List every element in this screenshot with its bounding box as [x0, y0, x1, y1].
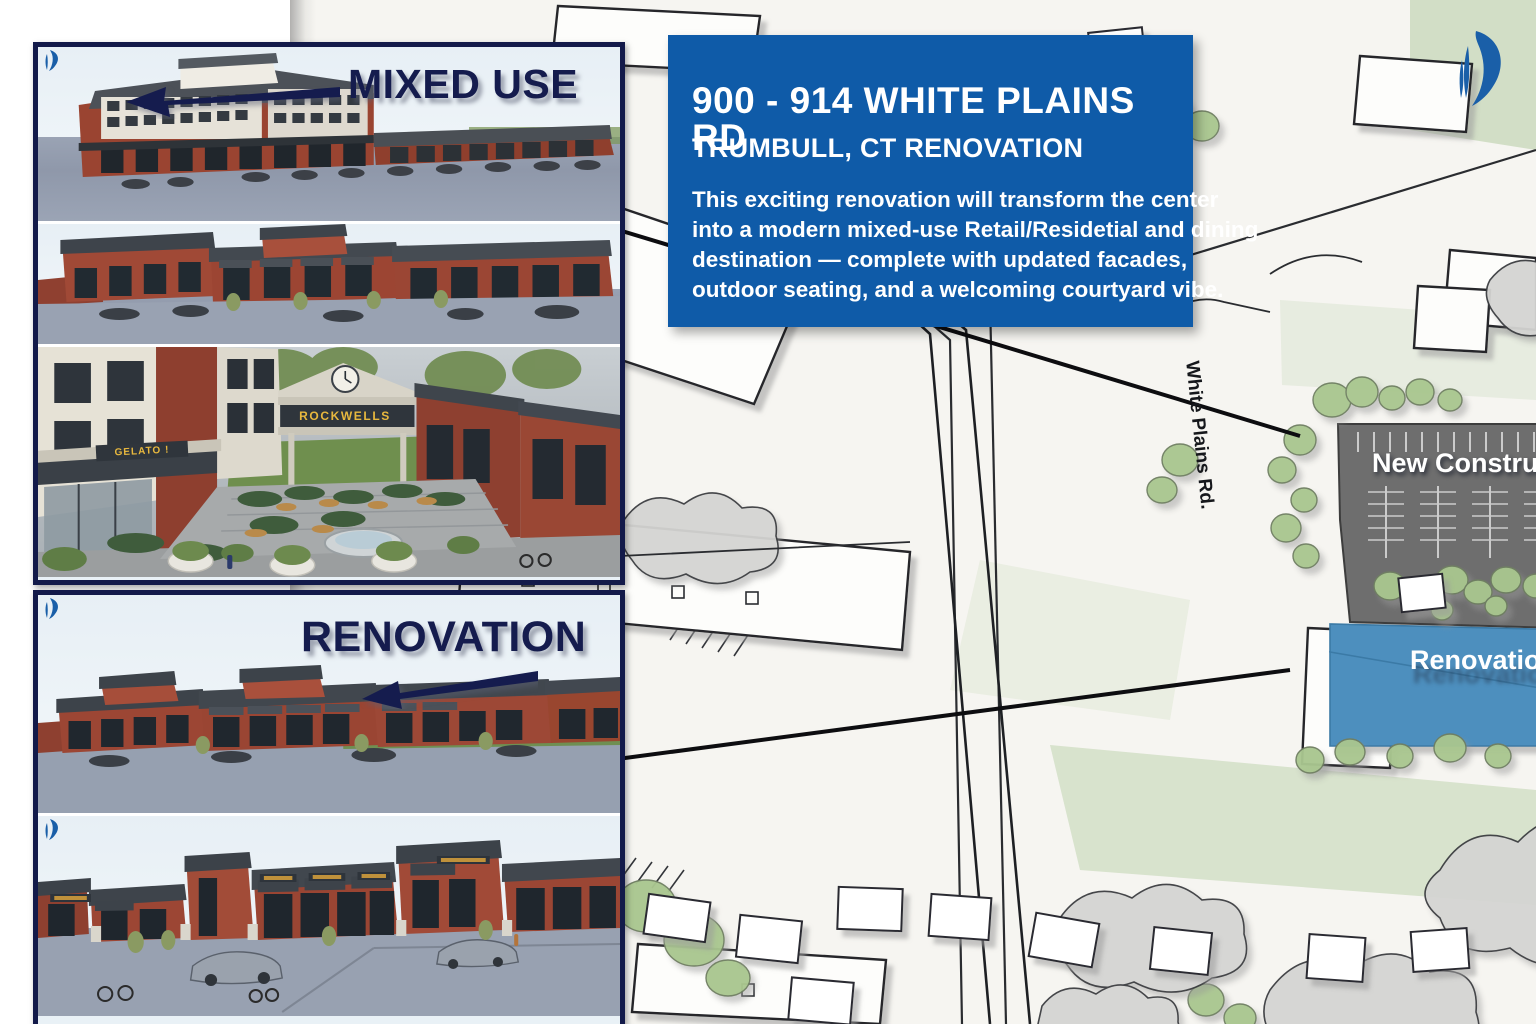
rockwells-sign-text: ROCKWELLS [299, 409, 391, 423]
mixed-use-aerial-view[interactable]: MIXED USE [38, 47, 620, 221]
renovation-panel[interactable]: RENOVATION [33, 590, 625, 1024]
rockwells-sign: ROCKWELLS [280, 404, 410, 428]
arrow-left-icon [358, 667, 538, 709]
crescent-logo [44, 597, 60, 619]
banner-description-line-1: This exciting renovation will transform … [692, 185, 1178, 215]
project-banner: 900 - 914 WHITE PLAINS RD TRUMBULL, CT R… [668, 35, 1193, 327]
new-construction-label: New Construction. [1372, 448, 1536, 479]
retail-streetfront-illustration [38, 224, 620, 344]
courtyard-illustration [38, 347, 620, 577]
new-construction-label-text: New Construction. [1372, 448, 1536, 478]
arrow-left-icon [120, 75, 340, 119]
banner-description-line-2: into a modern mixed-use Retail/Residetia… [692, 215, 1178, 245]
banner-city: TRUMBULL, CT RENOVATION [692, 135, 1083, 162]
crescent-logo [44, 49, 60, 71]
mixed-use-label: MIXED USE [348, 61, 578, 108]
retail-streetfront-view[interactable] [38, 221, 620, 344]
banner-description-line-3: destination — complete with updated faca… [692, 245, 1178, 275]
renovation-streetfront-illustration [38, 816, 620, 1016]
renovations-label: Renovations Renovations [1410, 645, 1536, 676]
poster-canvas: White Plains Rd. New Construction. Renov… [0, 0, 1536, 1024]
mixed-use-panel[interactable]: MIXED USE [33, 42, 625, 585]
crescent-logo [44, 818, 60, 840]
banner-description: This exciting renovation will transform … [692, 185, 1178, 305]
renovation-label: RENOVATION [301, 613, 586, 662]
courtyard-view[interactable]: GELATO ! ROCKWELLS [38, 344, 620, 577]
renovations-label-text: Renovations [1410, 645, 1536, 675]
gelato-sign-text: GELATO ! [114, 444, 169, 458]
renovation-long-elevation[interactable]: RENOVATION [38, 595, 620, 813]
banner-description-line-4: outdoor seating, and a welcoming courtya… [692, 275, 1178, 305]
crescent-logo [1454, 26, 1508, 108]
renovation-streetfront-view[interactable] [38, 813, 620, 1016]
